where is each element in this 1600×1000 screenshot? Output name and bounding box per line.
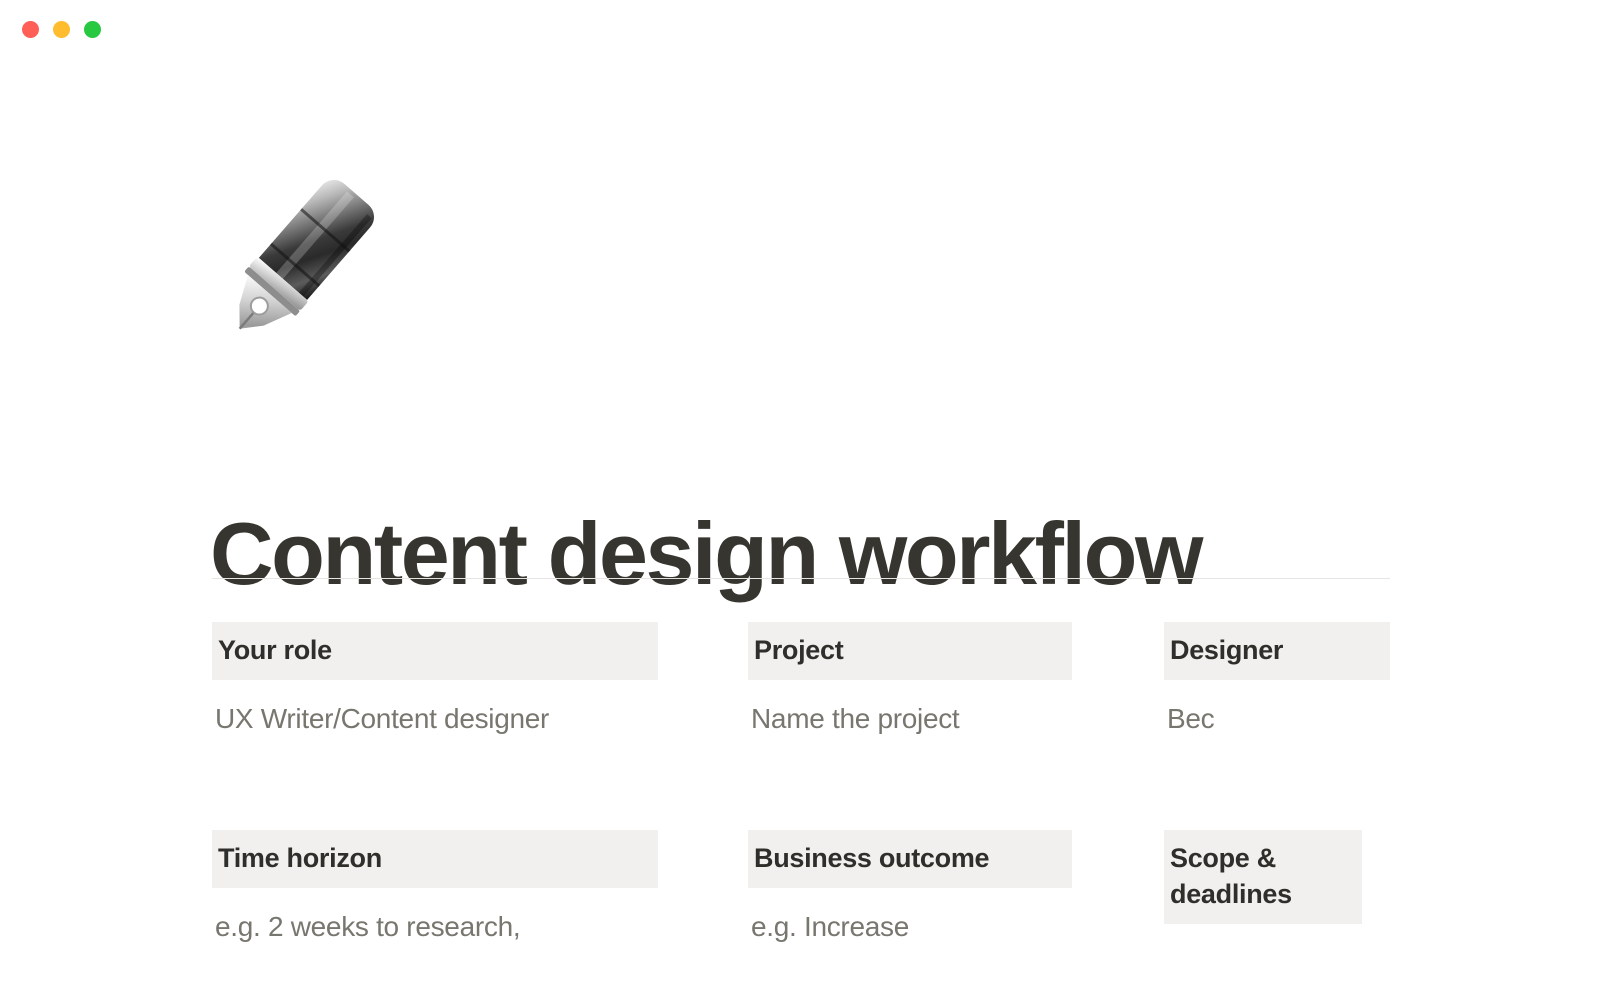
- field-time-horizon[interactable]: Time horizon e.g. 2 weeks to research,: [212, 830, 658, 945]
- field-label-project: Project: [748, 622, 1072, 680]
- field-your-role[interactable]: Your role UX Writer/Content designer: [212, 622, 658, 737]
- traffic-light-controls: [22, 21, 101, 38]
- field-business-outcome[interactable]: Business outcome e.g. Increase: [748, 830, 1072, 945]
- fountain-pen-icon[interactable]: [207, 162, 397, 352]
- field-designer[interactable]: Designer Bec: [1164, 622, 1390, 737]
- app-window: Content design workflow Your role UX Wri…: [0, 0, 1600, 1000]
- document-canvas: Content design workflow Your role UX Wri…: [0, 62, 1600, 1000]
- title-divider: [212, 578, 1390, 579]
- field-value-designer[interactable]: Bec: [1164, 701, 1390, 737]
- fields-row-1: Your role UX Writer/Content designer Pro…: [212, 622, 1390, 830]
- close-window-button[interactable]: [22, 21, 39, 38]
- field-label-scope-deadlines: Scope & deadlines: [1164, 830, 1362, 924]
- maximize-window-button[interactable]: [84, 21, 101, 38]
- field-label-designer: Designer: [1164, 622, 1390, 680]
- field-value-project[interactable]: Name the project: [748, 701, 1072, 737]
- field-label-business-outcome: Business outcome: [748, 830, 1072, 888]
- field-label-time-horizon: Time horizon: [212, 830, 658, 888]
- fields-grid: Your role UX Writer/Content designer Pro…: [212, 622, 1390, 1000]
- field-value-time-horizon[interactable]: e.g. 2 weeks to research,: [212, 909, 658, 945]
- field-label-your-role: Your role: [212, 622, 658, 680]
- page-title[interactable]: Content design workflow: [210, 506, 1410, 603]
- field-value-your-role[interactable]: UX Writer/Content designer: [212, 701, 658, 737]
- window-titlebar: [0, 0, 1600, 62]
- minimize-window-button[interactable]: [53, 21, 70, 38]
- fields-row-2: Time horizon e.g. 2 weeks to research, B…: [212, 830, 1390, 1000]
- field-project[interactable]: Project Name the project: [748, 622, 1072, 737]
- field-scope-deadlines[interactable]: Scope & deadlines: [1164, 830, 1390, 945]
- field-value-business-outcome[interactable]: e.g. Increase: [748, 909, 1072, 945]
